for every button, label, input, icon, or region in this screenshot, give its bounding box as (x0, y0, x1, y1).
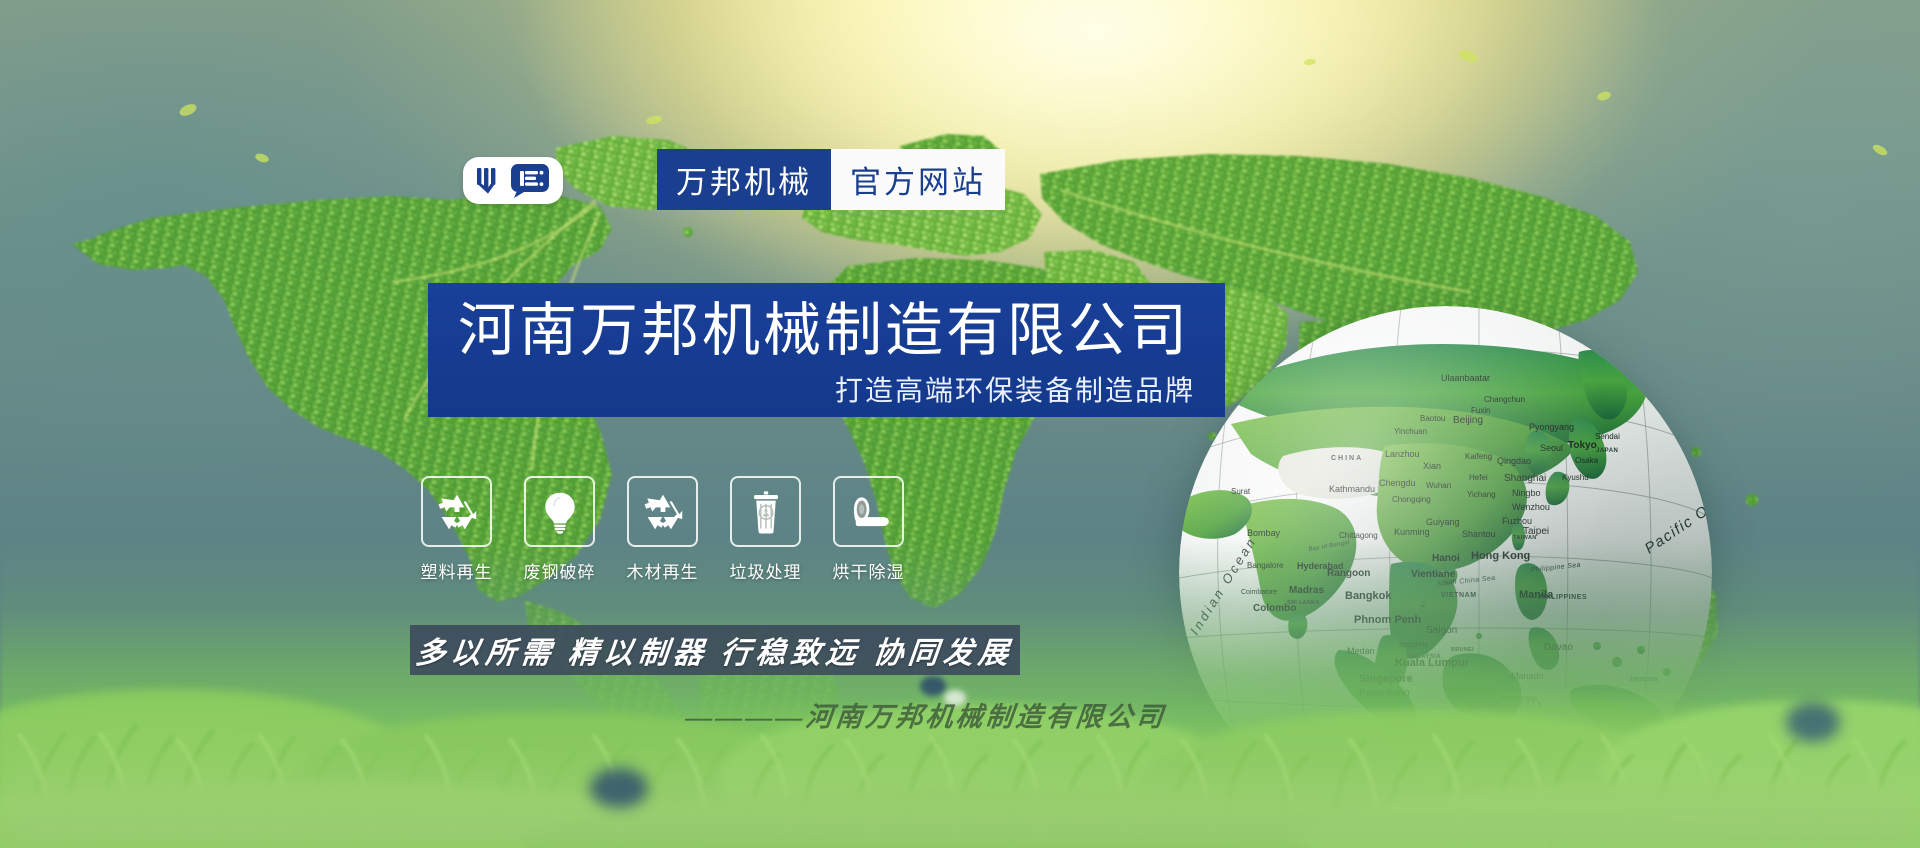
hero-tagline: 打造高端环保装备制造品牌 (835, 369, 1195, 409)
pebble-3 (590, 768, 648, 808)
tab-official-site[interactable]: 官方网站 (831, 149, 1005, 210)
slogan-text: 多以所需 精以制器 行稳致远 协同发展 (414, 628, 1016, 672)
recycle-icon (435, 490, 479, 534)
globe-city-label: Kathmandu (1329, 484, 1375, 494)
globe-city-label: Changchun (1484, 395, 1525, 404)
globe-city-label: Bombay (1247, 528, 1281, 538)
feature-label: 烘干除湿 (833, 558, 905, 583)
recycle-icon (641, 490, 685, 534)
globe-city-label: Kunming (1394, 527, 1430, 537)
globe-city-label: Osaka (1575, 456, 1599, 465)
trash-bin-icon (744, 490, 788, 534)
feature-icon-box (421, 476, 492, 547)
feature-label: 木材再生 (627, 558, 699, 583)
globe-city-label: Lanzhou (1385, 449, 1420, 459)
globe-city-label: Kyushu (1562, 473, 1589, 482)
globe-city-label: Xian (1423, 461, 1441, 471)
globe-city-label: Taipei (1523, 526, 1549, 537)
globe-city-label: Ulaanbaatar (1441, 373, 1490, 383)
tab-brand[interactable]: 万邦机械 (657, 149, 831, 210)
hero-banner: Pacific OceanIndian OceanSouth China Sea… (0, 0, 1920, 848)
feature-icon-box (524, 476, 595, 547)
feature-plastic-recycling[interactable]: 塑料再生 (421, 476, 492, 583)
globe-city-label: Hefei (1469, 473, 1488, 482)
hero-title-plate: 河南万邦机械制造有限公司 打造高端环保装备制造品牌 (428, 283, 1225, 417)
feature-label: 废钢破碎 (524, 558, 596, 583)
feature-label: 垃圾处理 (730, 558, 802, 583)
globe-city-label: Chengdu (1379, 478, 1416, 488)
feature-icon-box (627, 476, 698, 547)
globe-city-label: Sendai (1595, 432, 1620, 441)
feature-icon-box (833, 476, 904, 547)
lightbulb-icon (538, 490, 582, 534)
page-title: 河南万邦机械制造有限公司 (458, 295, 1190, 367)
globe-city-label: Yinchuan (1394, 427, 1427, 436)
globe-city-label: Fuzhou (1502, 516, 1532, 526)
globe-city-label: Qingdao (1497, 456, 1531, 466)
globe-city-label: Guiyang (1426, 517, 1460, 527)
pebble-4 (1786, 702, 1840, 742)
feature-label: 塑料再生 (421, 558, 493, 583)
globe-city-label: Wuhan (1426, 481, 1451, 490)
feature-waste-treatment[interactable]: 垃圾处理 (730, 476, 801, 583)
globe-city-label: Pyongyang (1529, 422, 1574, 432)
feature-wood-recycling[interactable]: 木材再生 (627, 476, 698, 583)
globe-city-label: Chongqing (1392, 495, 1431, 504)
feature-icon-row: 塑料再生 废钢破碎 (421, 476, 904, 583)
globe-country-label: JAPAN (1596, 448, 1618, 454)
globe-city-label: Seoul (1540, 443, 1563, 453)
header-tabs: 万邦机械 官方网站 (657, 149, 1005, 210)
logo-w-mark (476, 168, 506, 194)
globe-city-label: Wenzhou (1512, 502, 1550, 512)
globe-city-label: Beijing (1453, 415, 1483, 426)
globe-city-label: Shanghai (1504, 473, 1546, 484)
globe-city-label: Tokyo (1568, 440, 1597, 451)
feature-icon-box (730, 476, 801, 547)
globe-city-label: Ningbo (1512, 488, 1541, 498)
globe-city-label: Fuxin (1471, 406, 1491, 415)
blower-icon (847, 490, 891, 534)
globe-city-label: Yichang (1467, 490, 1496, 499)
feature-drying-dehumidifying[interactable]: 烘干除湿 (833, 476, 904, 583)
feature-scrap-steel-shredding[interactable]: 废钢破碎 (524, 476, 595, 583)
globe-city-label: Surat (1231, 487, 1251, 496)
globe-city-label: Baotou (1420, 414, 1445, 423)
logo-b-bubble-icon (510, 163, 550, 199)
pebble-1 (920, 676, 946, 696)
globe-country-label: CHINA (1331, 455, 1363, 462)
slogan-attribution: ————河南万邦机械制造有限公司 (684, 695, 1168, 734)
wanbang-logo[interactable] (463, 157, 563, 204)
slogan-banner: 多以所需 精以制器 行稳致远 协同发展 (410, 625, 1020, 675)
globe-city-label: Kaifeng (1465, 452, 1492, 461)
